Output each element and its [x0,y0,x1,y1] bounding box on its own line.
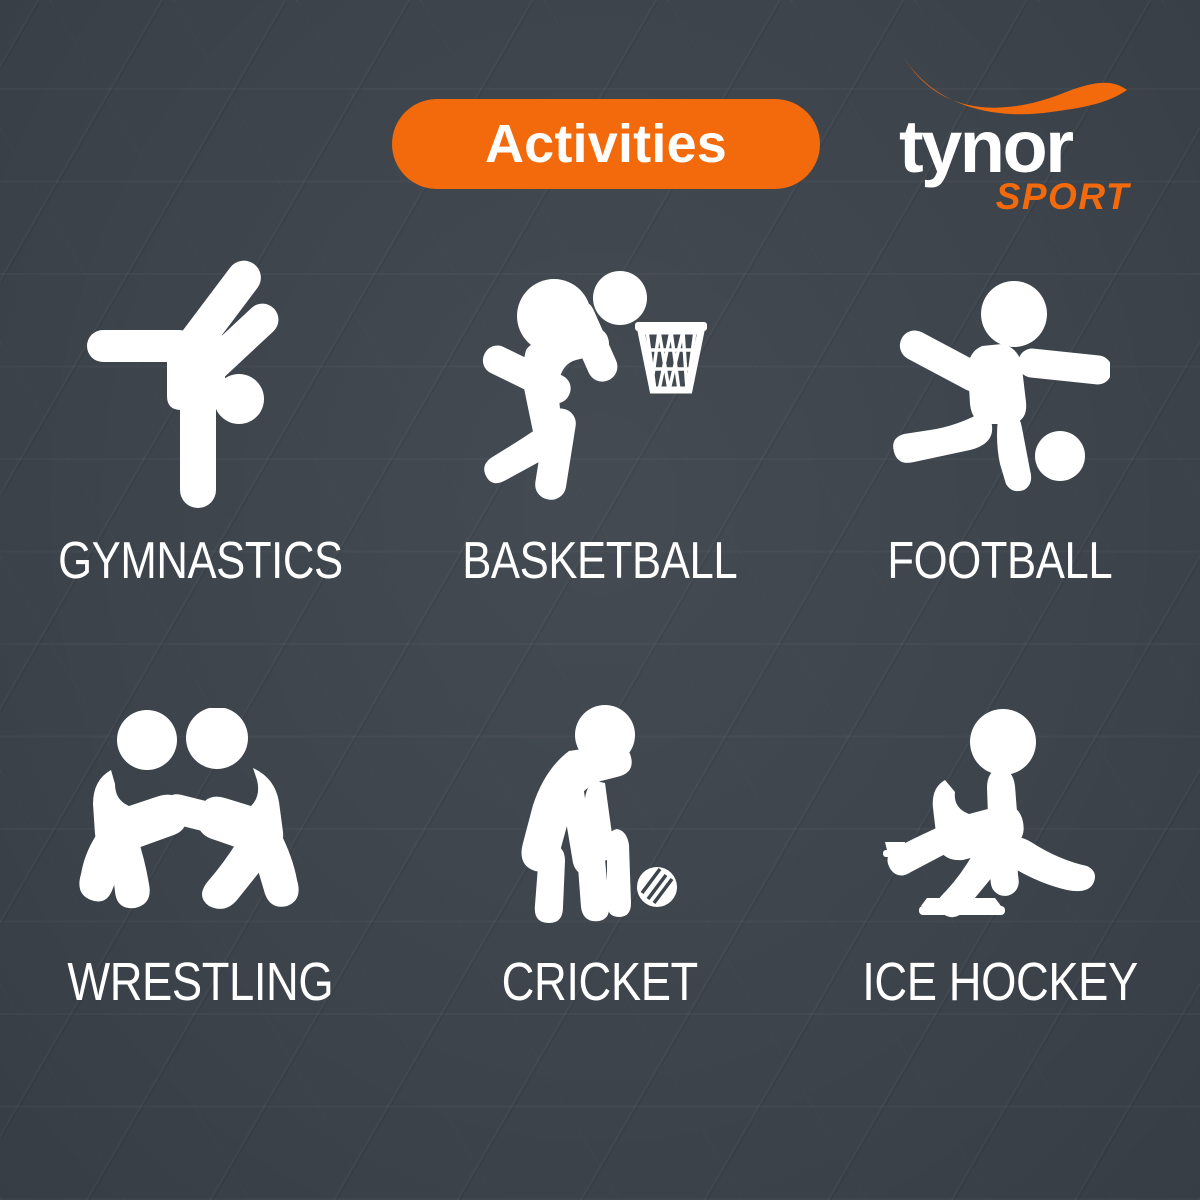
activities-grid: GYMNASTICS [0,235,1200,1115]
activity-card-football[interactable]: FOOTBALL [800,235,1200,675]
logo-subtext: SPORT [996,178,1130,215]
activity-card-basketball[interactable]: BASKETBALL [400,235,800,675]
gymnastics-icon [85,235,315,535]
activities-row: WRESTLING [0,675,1200,1115]
activities-poster: Activities tynor SPORT [0,0,1200,1200]
activity-label: ICE HOCKEY [862,955,1138,1009]
activity-card-gymnastics[interactable]: GYMNASTICS [0,235,400,675]
tynor-sport-logo: tynor SPORT [895,52,1130,217]
logo-wordmark: tynor [899,110,1072,184]
activity-card-wrestling[interactable]: WRESTLING [0,675,400,1115]
wrestling-icon [75,675,325,955]
ice-hockey-icon [883,675,1118,955]
activity-card-cricket[interactable]: CRICKET [400,675,800,1115]
activity-label: FOOTBALL [888,535,1113,587]
basketball-icon [480,235,720,535]
activity-label: GYMNASTICS [58,535,343,587]
activity-label: CRICKET [502,955,698,1009]
activity-label: BASKETBALL [462,535,737,587]
activities-row: GYMNASTICS [0,235,1200,675]
activity-card-ice-hockey[interactable]: ICE HOCKEY [800,675,1200,1115]
cricket-icon [505,675,695,955]
activities-badge: Activities [392,99,820,189]
activities-badge-label: Activities [485,117,727,171]
football-icon [890,235,1110,535]
activity-label: WRESTLING [67,955,333,1009]
